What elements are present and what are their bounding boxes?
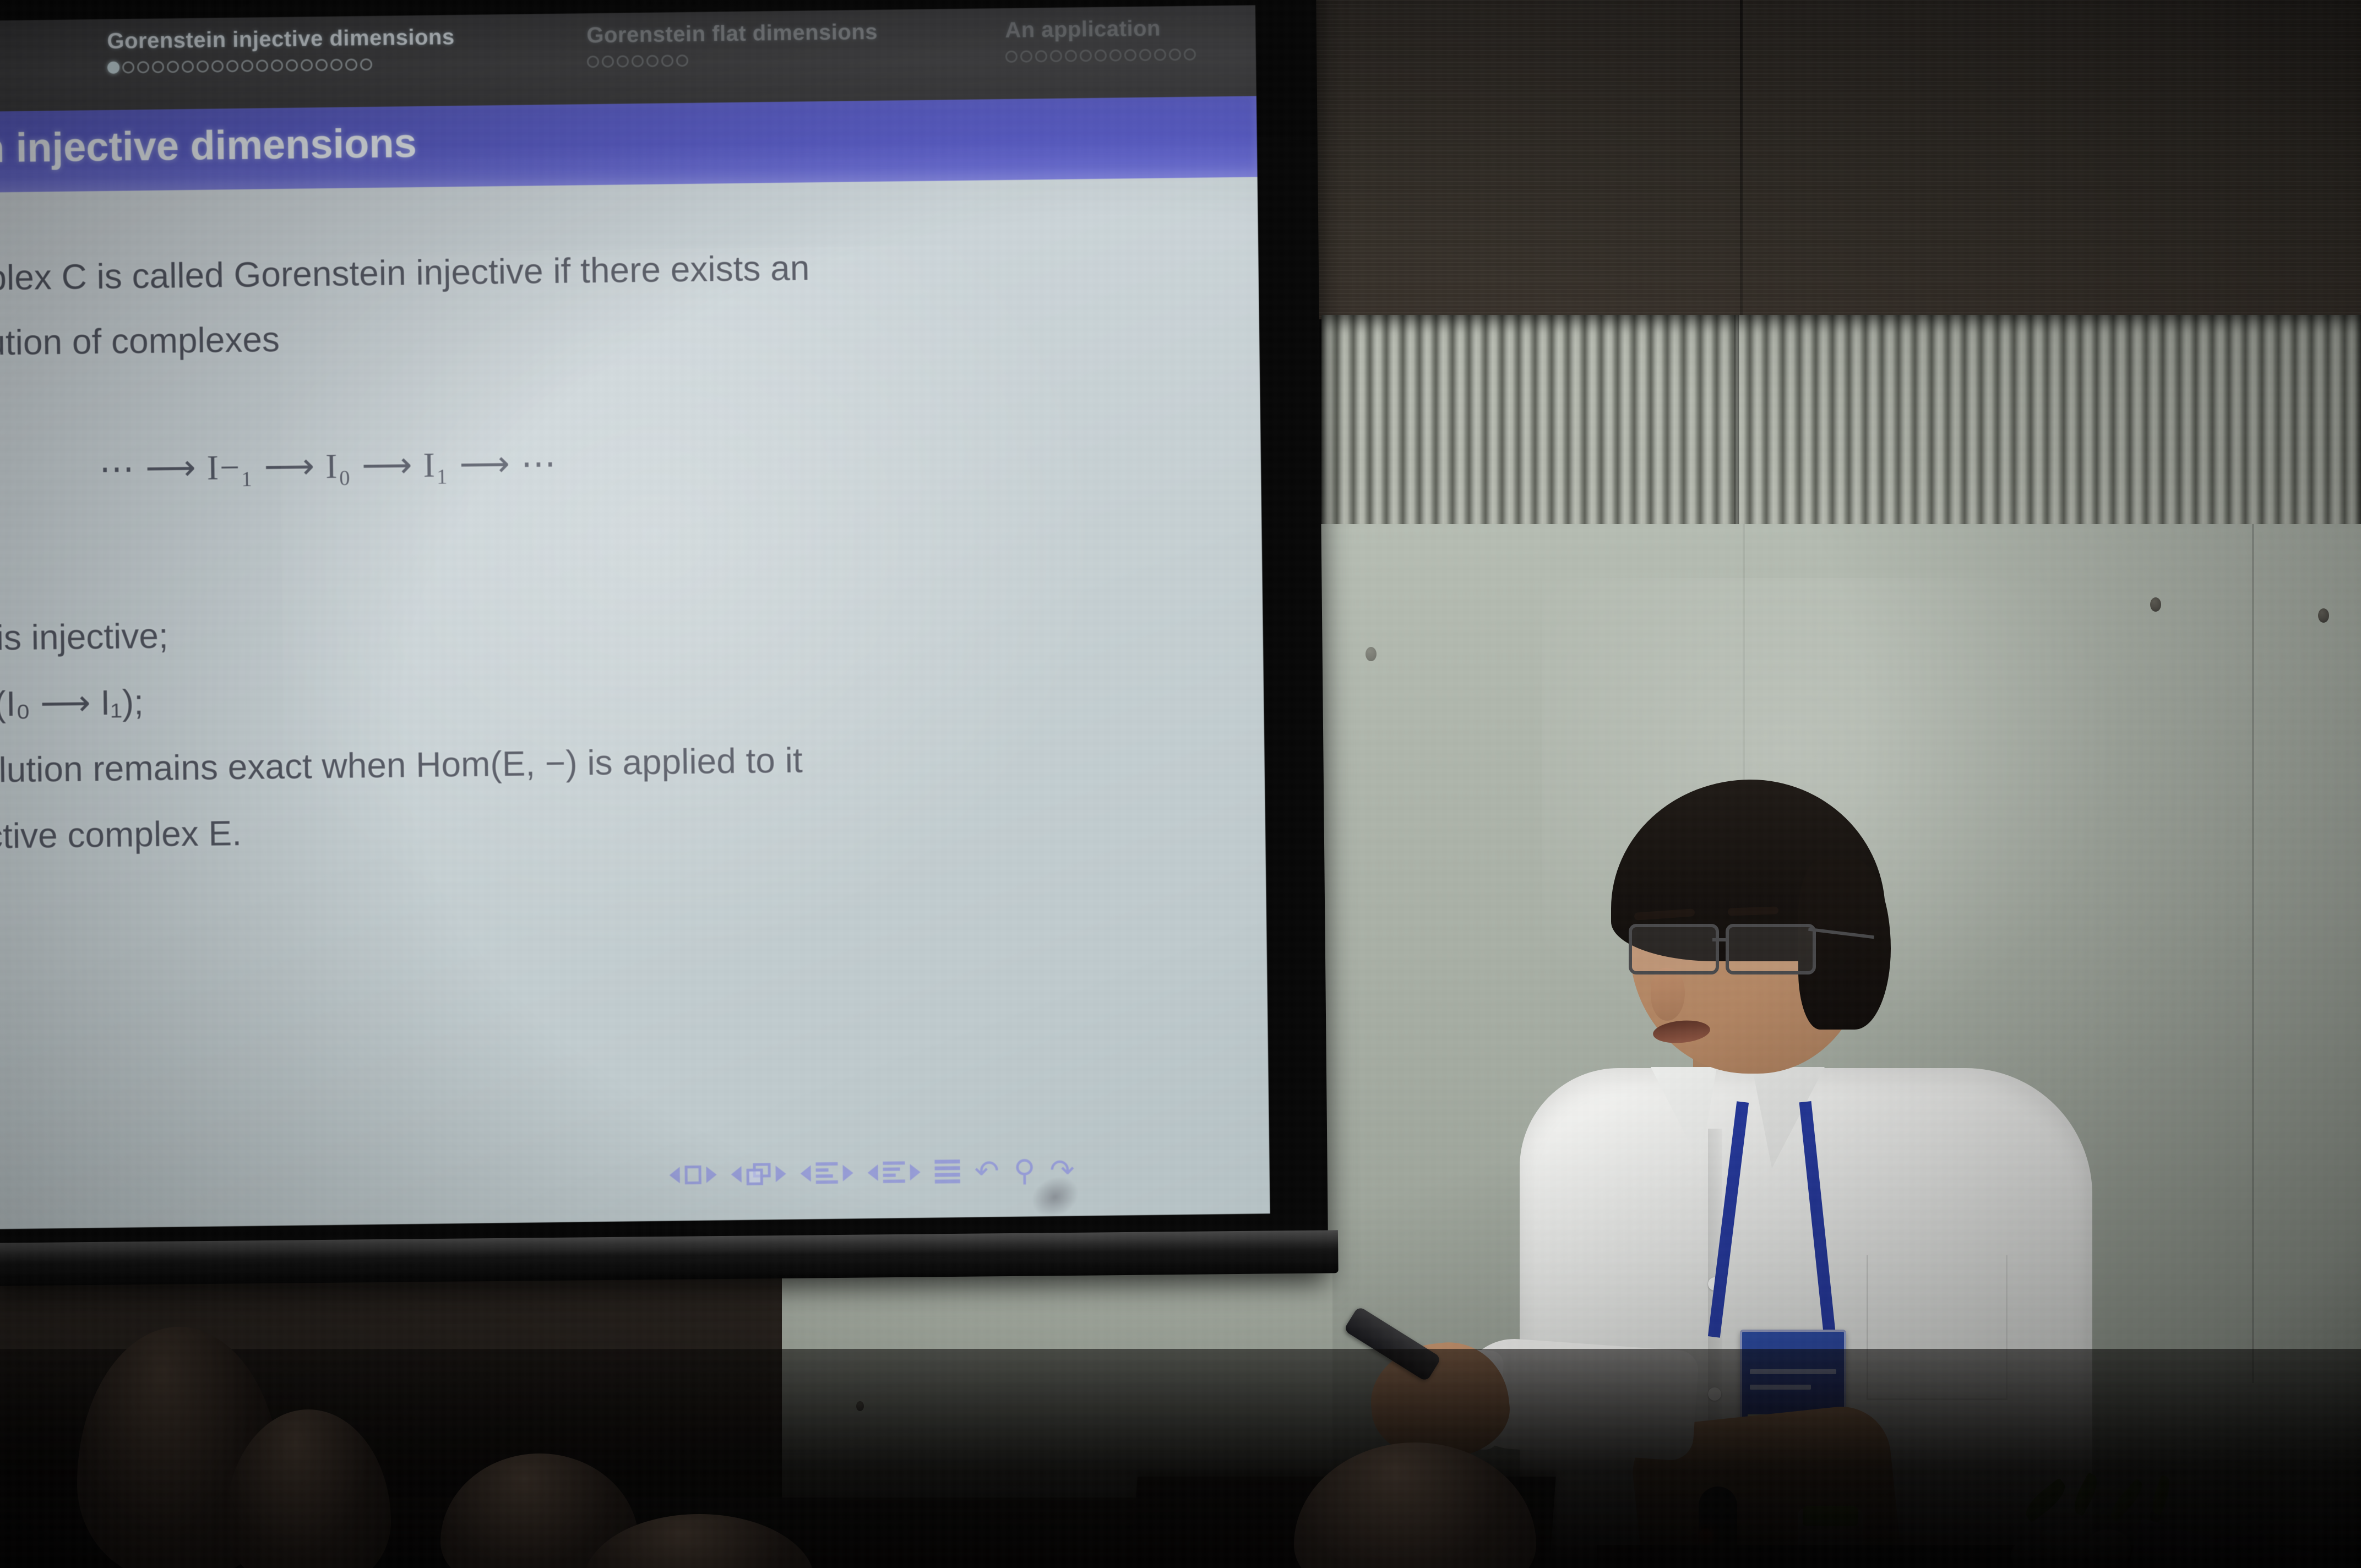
- document-icon[interactable]: [934, 1159, 960, 1184]
- glasses-lens-left: [1629, 924, 1719, 974]
- projected-slide: ...exes Gorenstein injective dimensions …: [0, 5, 1270, 1229]
- prev-frame-icon[interactable]: [731, 1166, 742, 1183]
- nav-section-dots: [587, 52, 878, 68]
- body-line-2: ...olution of complexes: [0, 319, 280, 364]
- prev-subsection-icon[interactable]: [801, 1165, 811, 1182]
- nav-section-label: Gorenstein flat dimensions: [586, 20, 878, 48]
- section-nav-group[interactable]: [867, 1161, 920, 1183]
- subsection-nav-group[interactable]: [800, 1162, 853, 1184]
- slat-panel-seam: [1734, 315, 1739, 535]
- search-icon[interactable]: ⚲: [1014, 1158, 1036, 1183]
- nav-section-gorenstein-flat-dimensions[interactable]: Gorenstein flat dimensions: [586, 20, 878, 68]
- glasses-bridge: [1712, 938, 1727, 941]
- acoustic-slat-panel: [1321, 315, 2361, 535]
- next-section-icon[interactable]: [910, 1164, 920, 1180]
- wall-fastener: [1366, 647, 1377, 661]
- next-subsection-icon[interactable]: [842, 1164, 853, 1181]
- nav-section-gorenstein-injective-dimensions[interactable]: Gorenstein injective dimensions: [107, 25, 455, 74]
- next-frame-icon[interactable]: [776, 1166, 786, 1182]
- beamer-navigation-bar: ...exes Gorenstein injective dimensions …: [0, 5, 1256, 112]
- nav-section-an-application[interactable]: An application: [1005, 16, 1196, 63]
- body-bullet-1: ...Iᵢ is injective;: [0, 616, 168, 659]
- wood-seam: [1740, 0, 1743, 319]
- wall-fastener: [2150, 597, 2161, 612]
- nav-section-dots: [107, 57, 455, 74]
- section-icon[interactable]: [883, 1161, 905, 1183]
- wood-ceiling-trim: [1310, 0, 2361, 319]
- eyeglasses: [1629, 924, 1831, 971]
- foreground-audience: [0, 1349, 2361, 1568]
- shirt-collar-left: [1651, 1067, 1717, 1164]
- next-slide-icon[interactable]: [706, 1166, 717, 1183]
- body-line-1: ...mplex C is called Gorenstein injectiv…: [0, 247, 810, 299]
- wall-fastener: [2318, 608, 2329, 623]
- slide-body: ...mplex C is called Gorenstein injectiv…: [0, 177, 1270, 1229]
- nav-section-dots: [1005, 48, 1196, 63]
- prev-section-icon[interactable]: [867, 1164, 878, 1181]
- wall-panel-seam: [2252, 524, 2254, 1383]
- body-bullet-4: ...ective complex E.: [0, 813, 242, 857]
- beamer-navigation-symbols[interactable]: ↶ ⚲ ↷: [669, 1158, 1075, 1187]
- nav-section-label: Gorenstein injective dimensions: [107, 25, 455, 54]
- injective-resolution-equation: ⋯ ⟶ I−₁ ⟶ I₀ ⟶ I₁ ⟶ ⋯: [99, 443, 558, 489]
- glasses-lens-right: [1726, 924, 1816, 974]
- subsection-icon[interactable]: [815, 1162, 837, 1184]
- back-icon[interactable]: ↶: [974, 1159, 999, 1183]
- slide-icon[interactable]: [684, 1165, 701, 1184]
- slide-frame-title: ...in injective dimensions: [0, 119, 417, 172]
- lecture-photo: ...exes Gorenstein injective dimensions …: [0, 0, 2361, 1568]
- prev-slide-icon[interactable]: [670, 1167, 680, 1183]
- nav-section-label: An application: [1005, 16, 1196, 43]
- body-bullet-2: ...er(I₀ ⟶ I₁);: [0, 682, 144, 726]
- frame-nav-group[interactable]: [731, 1163, 786, 1185]
- body-bullet-3: ...solution remains exact when Hom(E, −)…: [0, 740, 803, 791]
- frame-icon[interactable]: [746, 1163, 770, 1185]
- slide-nav-group[interactable]: [669, 1165, 716, 1184]
- slide-title-bar: ...in injective dimensions: [0, 96, 1258, 193]
